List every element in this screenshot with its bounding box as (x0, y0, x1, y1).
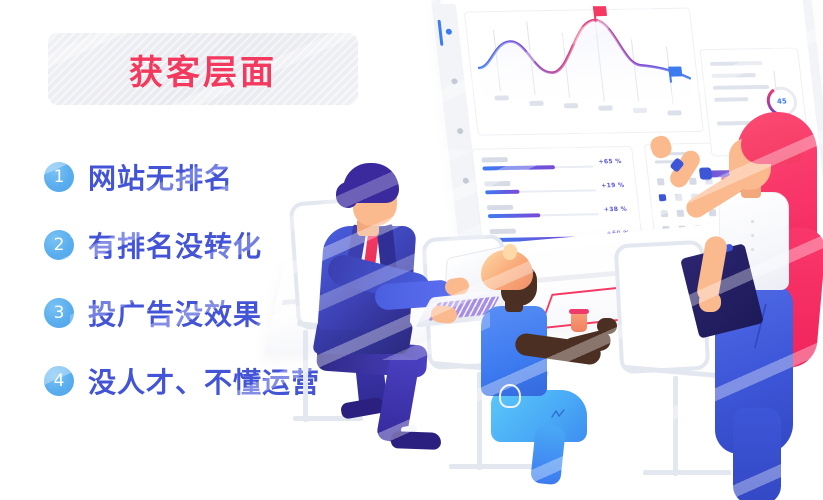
progress-cap-1 (481, 157, 508, 162)
progress-fill-1 (482, 165, 555, 170)
line-chart-card (464, 8, 704, 136)
list-label-3: 投广告没效果 (88, 293, 262, 333)
gauge-text-line-3 (713, 85, 770, 90)
seated-apron-tie (499, 384, 521, 408)
matrix-cell (677, 210, 685, 217)
nav-dot-2-icon (451, 78, 458, 84)
progress-value-1: +65 % (598, 158, 622, 165)
illustration-scene: +65 % +19 % +38 % (275, 0, 823, 500)
nav-dot-1-icon (446, 29, 453, 35)
woman-top-button-3 (751, 248, 754, 251)
coffee-cup (571, 312, 587, 332)
progress-value-2: +19 % (601, 182, 625, 189)
list-label-1: 网站无排名 (88, 157, 233, 197)
matrix-cell (659, 194, 667, 201)
person-businessman (305, 160, 480, 460)
woman-top-button-1 (751, 220, 754, 223)
seated-pants-logo-icon (551, 408, 567, 420)
progress-row-3: +38 % (487, 203, 638, 225)
woman-pants-lower (733, 408, 781, 500)
woman-hand-holding (699, 292, 721, 312)
list-item-2: 2 有排名没转化 (44, 225, 262, 265)
progress-cap-2 (484, 181, 511, 186)
businessman-hand-lower (430, 305, 458, 325)
list-label-2: 有排名没转化 (88, 225, 262, 265)
list-badge-1: 1 (44, 162, 74, 192)
gauge-text-line-2 (711, 73, 756, 78)
seated-hand (597, 318, 617, 334)
chart-flag-blue-icon (668, 66, 682, 76)
list-item-1: 1 网站无排名 (44, 157, 233, 197)
gauge-text-line-4 (714, 97, 749, 102)
person-woman-presenting (693, 108, 823, 500)
list-item-3: 3 投广告没效果 (44, 293, 262, 333)
person-seated-coffee (455, 250, 605, 485)
businessman-hair (343, 163, 399, 203)
gauge-value: 45 (777, 97, 788, 105)
seated-shin (530, 425, 566, 486)
list-badge-2: 2 (44, 230, 74, 260)
matrix-cell (660, 210, 668, 217)
woman-top-button-2 (751, 234, 754, 237)
progress-fill-3 (488, 213, 541, 217)
progress-fill-2 (485, 190, 520, 194)
list-badge-4: 4 (44, 366, 74, 396)
nav-dot-3-icon (457, 128, 464, 134)
businessman-shoe-front (391, 431, 442, 450)
progress-value-3: +38 % (604, 206, 628, 213)
progress-cap-4 (489, 229, 516, 234)
progress-row-1: +65 % (481, 155, 632, 177)
infographic-canvas: 获客层面 1 网站无排名 2 有排名没转化 3 投广告没效果 4 没人才、不懂运… (0, 0, 823, 500)
matrix-cell (657, 178, 665, 185)
progress-row-2: +19 % (484, 179, 635, 201)
chair-right-leg-1 (673, 376, 678, 476)
page-title: 获客层面 (129, 45, 277, 94)
matrix-cell (675, 194, 683, 201)
gauge-text-line-1 (710, 61, 763, 66)
nav-active-indicator (437, 20, 443, 46)
coffee-cup-lid (569, 309, 589, 314)
woman-hair-front (741, 120, 803, 164)
chart-flag-red-icon (593, 6, 607, 16)
list-badge-3: 3 (44, 298, 74, 328)
progress-cap-3 (487, 205, 514, 210)
